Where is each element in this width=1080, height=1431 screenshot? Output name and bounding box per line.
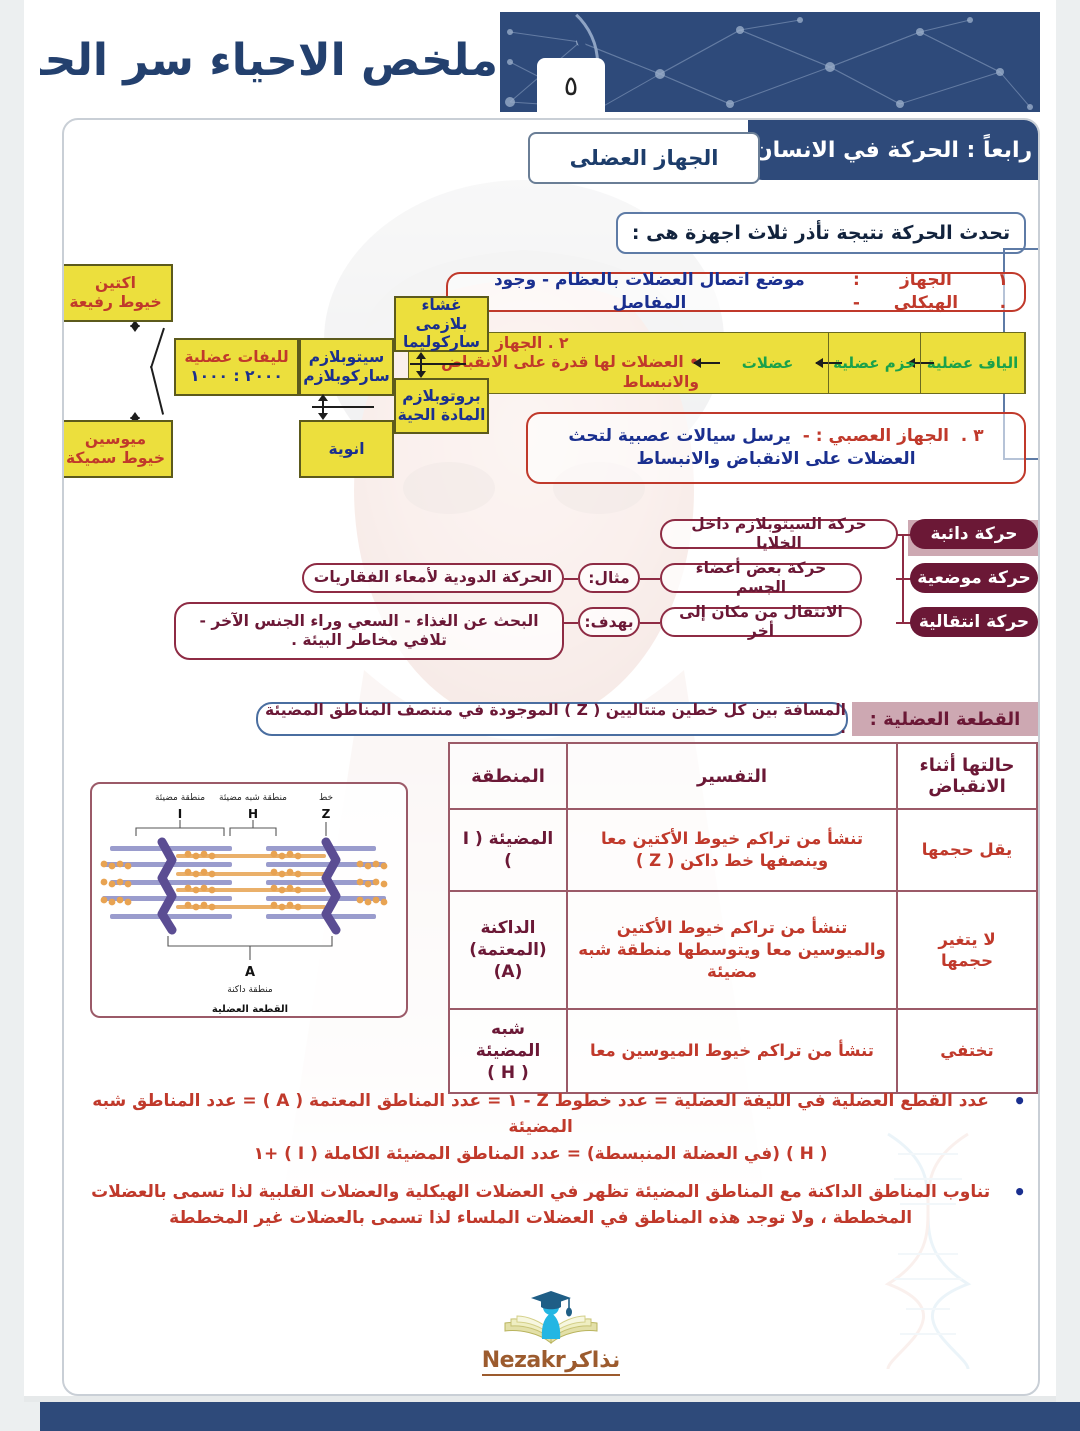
system-2-number: ٢ . — [548, 334, 569, 352]
sarcomere-figure: منطقة مضيئة منطقة شبه مضيئة خط I H Z — [90, 782, 408, 1018]
fig-label-I-top: منطقة مضيئة — [155, 793, 205, 803]
cell-box-myosin-l1: ميوسين — [85, 430, 146, 449]
system-1-text: موضع اتصال العضلات بالعظام - وجود المفاص… — [458, 269, 841, 315]
row-1-explanation-l1: تنشأ من تراكم خيوط الأكتين — [617, 918, 848, 937]
cell-box-cytoplasm-l1: سيتوبلازم — [309, 348, 385, 367]
content-card: رابعاً : الحركة في الانسان الجهاز العضلى… — [62, 118, 1040, 1396]
sarcomere-table: حالتها أثناء الانقباض التفسير المنطقة يق… — [448, 742, 1038, 1094]
movement-desc-2: الانتقال من مكان إلى أخر — [660, 607, 862, 637]
row-1-state: لا يتغير حجمها — [897, 891, 1037, 1009]
cell-box-nucleus: انوية — [299, 420, 394, 478]
table-header-row: حالتها أثناء الانقباض التفسير المنطقة — [449, 743, 1037, 809]
note-1-body: تناوب المناطق الداكنة مع المناطق المضيئة… — [76, 1179, 1005, 1232]
note-0-body: عدد القطع العضلية في الليفة العضلية = عد… — [76, 1088, 1005, 1167]
subject-chip: الجهاز العضلى — [528, 132, 760, 184]
chain-item-2: حزم عضلية — [833, 355, 916, 372]
cell-box-protoplasm-l1: بروتوبلازم — [402, 387, 481, 406]
cell-box-nucleus-l1: انوية — [328, 440, 364, 459]
row-2-zone-l2: ( H ) — [487, 1063, 529, 1083]
movement-tag-2: بهدف: — [578, 607, 640, 637]
fig-label-Z: Z — [322, 807, 331, 821]
row-0-zone: المضيئة ( I ) — [449, 809, 567, 891]
chain-item-1: عضلات — [742, 355, 794, 372]
row-1-state-l2: حجمها — [941, 951, 993, 970]
table-row: لا يتغير حجمها تنشأ من تراكم خيوط الأكتي… — [449, 891, 1037, 1009]
movement-type-1: حركة موضعية — [910, 563, 1038, 593]
system-1-name: الجهاز الهيكلى — [866, 269, 986, 315]
bullet-dot-icon: • — [1013, 1179, 1026, 1206]
system-muscular-band: الياف عضلية حزم عضلية عضلات ٢ . الجهاز ا… — [408, 332, 1026, 394]
system-skeletal-box: ١ . الجهاز الهيكلى : - موضع اتصال العضلا… — [446, 272, 1026, 312]
row-2-zone: شبه المضيئة ( H ) — [449, 1009, 567, 1093]
system-nervous-box: ٣ . الجهاز العصبي : - يرسل سيالات عصبية … — [526, 412, 1026, 484]
note-1-line2: المخططة ، ولا توجد هذه المناطق في العضلا… — [76, 1205, 1005, 1231]
table-header-state: حالتها أثناء الانقباض — [897, 743, 1037, 809]
movement-detail-2-l2: تلافي مخاطر البيئة . — [291, 631, 447, 650]
row-0-explanation-l1: تنشأ من تراكم خيوط الأكتين معا — [601, 829, 863, 848]
cell-arrow-nucleus-icon — [322, 400, 324, 414]
cell-conn-fork-down — [150, 366, 164, 415]
cell-box-protoplasm-l2: المادة الحية — [398, 406, 486, 425]
movement-type-2: حركة انتقالية — [910, 607, 1038, 637]
cell-box-actin: اكتين خيوط رفيعة — [62, 264, 173, 322]
bottom-bar — [40, 1402, 1080, 1431]
system-3-sep: : - — [803, 426, 823, 446]
note-item: • عدد القطع العضلية في الليفة العضلية = … — [76, 1088, 1026, 1167]
note-item: • تناوب المناطق الداكنة مع المناطق المضي… — [76, 1179, 1026, 1232]
movement-tag-detail-line-2 — [564, 622, 578, 624]
row-0-explanation: تنشأ من تراكم خيوط الأكتين معا وينصفها خ… — [567, 809, 897, 891]
movement-detail-2-l1: البحث عن الغذاء - السعي وراء الجنس الآخر… — [199, 612, 538, 631]
note-1-line1: تناوب المناطق الداكنة مع المناطق المضيئة… — [76, 1179, 1005, 1205]
cell-box-myosin: ميوسين خيوط سميكة — [62, 420, 173, 478]
movement-detail-2: البحث عن الغذاء - السعي وراء الجنس الآخر… — [174, 602, 564, 660]
movement-type-0: حركة دائبة — [910, 519, 1038, 549]
page-title: ملخص الاحياء سر الحياة — [58, 30, 498, 92]
cell-conn-memb-proto-line — [410, 363, 466, 365]
cell-box-myofibrils-l2: ٢٠٠٠ : ١٠٠٠ — [190, 367, 283, 386]
sarcomere-definition: المسافة بين كل خطين متتاليين ( Z ) الموج… — [256, 702, 848, 736]
system-3-number: ٣ . — [961, 426, 984, 446]
intro-box: تحدث الحركة نتيجة تأذر ثلاث اجهزة هى : — [616, 212, 1026, 254]
row-1-zone-l3: (A) — [494, 962, 523, 982]
fig-label-H: H — [248, 807, 258, 821]
row-1-explanation: تنشأ من تراكم خيوط الأكتين والميوسين معا… — [567, 891, 897, 1009]
cell-box-myofibrils: لليفات عضلية ٢٠٠٠ : ١٠٠٠ — [174, 338, 299, 396]
fig-label-I: I — [178, 807, 182, 821]
cell-box-myofibrils-l1: لليفات عضلية — [184, 348, 288, 367]
chain-bundles-cell: حزم عضلية — [829, 333, 921, 393]
cell-box-actin-l2: خيوط رفيعة — [69, 293, 161, 312]
row-1-zone: الداكنة (المعتمة) (A) — [449, 891, 567, 1009]
chain-arrow-1-icon — [694, 362, 720, 364]
movement-desc-tag-line-2 — [640, 622, 660, 624]
table-header-zone: المنطقة — [449, 743, 567, 809]
table-row: تختفي تنشأ من تراكم خيوط الميوسين معا شب… — [449, 1009, 1037, 1093]
movement-desc-tag-line-1 — [640, 578, 660, 580]
row-1-zone-l2: (المعتمة) — [469, 940, 546, 960]
cell-box-protoplasm: بروتوبلازم المادة الحية — [394, 378, 489, 434]
movement-desc-1: حركة بعض أعضاء الجسم — [660, 563, 862, 593]
movement-tag-detail-line-1 — [564, 578, 578, 580]
note-0-line1: عدد القطع العضلية في الليفة العضلية = عد… — [76, 1088, 1005, 1141]
row-1-zone-l1: الداكنة — [481, 918, 536, 938]
table-row: يقل حجمها تنشأ من تراكم خيوط الأكتين معا… — [449, 809, 1037, 891]
site-logo: نذاكرNezakr — [64, 1285, 1038, 1376]
fig-label-H-top: منطقة شبه مضيئة — [219, 793, 287, 803]
logo-text: نذاكرNezakr — [482, 1348, 620, 1376]
fig-label-A-bottom: منطقة داكنة — [227, 985, 273, 995]
movement-desc-0: حركة السيتوبلازم داخل الخلايا — [660, 519, 898, 549]
bullet-dot-icon: • — [1013, 1088, 1026, 1115]
cell-conn-fork-up — [150, 328, 165, 369]
note-0-line2: ( H ) (في العضلة المنبسطة) = عدد المناطق… — [76, 1141, 1005, 1167]
row-1-explanation-l2: والميوسين معا ويتوسطها منطقة شبه — [578, 940, 886, 959]
sarcomere-diagram-icon: منطقة مضيئة منطقة شبه مضيئة خط I H Z — [90, 784, 406, 1018]
cell-box-membrane-l1: غشاء بلازمى — [396, 296, 487, 333]
fig-label-Z-top: خط — [319, 793, 333, 803]
cell-box-membrane-l2: ساركوليما — [403, 333, 480, 352]
system-1-number: ١ . — [992, 269, 1014, 315]
movement-detail-1: الحركة الدودية لأمعاء الفقاريات — [302, 563, 564, 593]
sarcomere-label: القطعة العضلية : — [852, 702, 1038, 736]
page-number: ٥ — [537, 58, 605, 112]
movement-tag-1: مثال: — [578, 563, 640, 593]
page-number-tab: ٥ — [537, 58, 605, 112]
notes-list: • عدد القطع العضلية في الليفة العضلية = … — [76, 1088, 1026, 1244]
cell-arrow-memb-proto-icon — [420, 358, 422, 372]
chain-fibers-cell: الياف عضلية — [921, 333, 1025, 393]
system-1-sep: : - — [847, 269, 866, 315]
fig-label-A: A — [245, 965, 255, 980]
system-3-name: الجهاز العصبي — [828, 426, 948, 446]
graduation-book-logo-icon — [497, 1285, 605, 1347]
cell-box-actin-l1: اكتين — [95, 274, 136, 293]
chain-muscles-cell: عضلات — [707, 333, 829, 393]
cell-box-membrane: غشاء بلازمى ساركوليما — [394, 296, 489, 352]
cell-box-myosin-l2: خيوط سميكة — [66, 449, 165, 468]
page-root: ملخص الاحياء سر الحياة ٥ — [0, 0, 1080, 1431]
cell-box-cytoplasm: سيتوبلازم ساركوبلازم — [299, 338, 394, 396]
row-1-explanation-l3: مضيئة — [707, 962, 757, 981]
row-1-state-l1: لا يتغير — [938, 930, 995, 949]
row-0-state: يقل حجمها — [897, 809, 1037, 891]
section-main-label: رابعاً : الحركة في الانسان — [748, 120, 1038, 180]
page-header: ملخص الاحياء سر الحياة ٥ — [40, 12, 1040, 112]
chain-item-3: الياف عضلية — [927, 355, 1019, 372]
table-header-explanation: التفسير — [567, 743, 897, 809]
cell-box-cytoplasm-l2: ساركوبلازم — [303, 367, 390, 386]
row-2-explanation: تنشأ من تراكم خيوط الميوسين معا — [567, 1009, 897, 1093]
row-2-zone-l1: شبه المضيئة — [476, 1019, 541, 1061]
row-2-state: تختفي — [897, 1009, 1037, 1093]
fig-caption: القطعة العضلية — [212, 1004, 288, 1015]
row-0-explanation-l2: وينصفها خط داكن ( Z ) — [636, 851, 828, 870]
